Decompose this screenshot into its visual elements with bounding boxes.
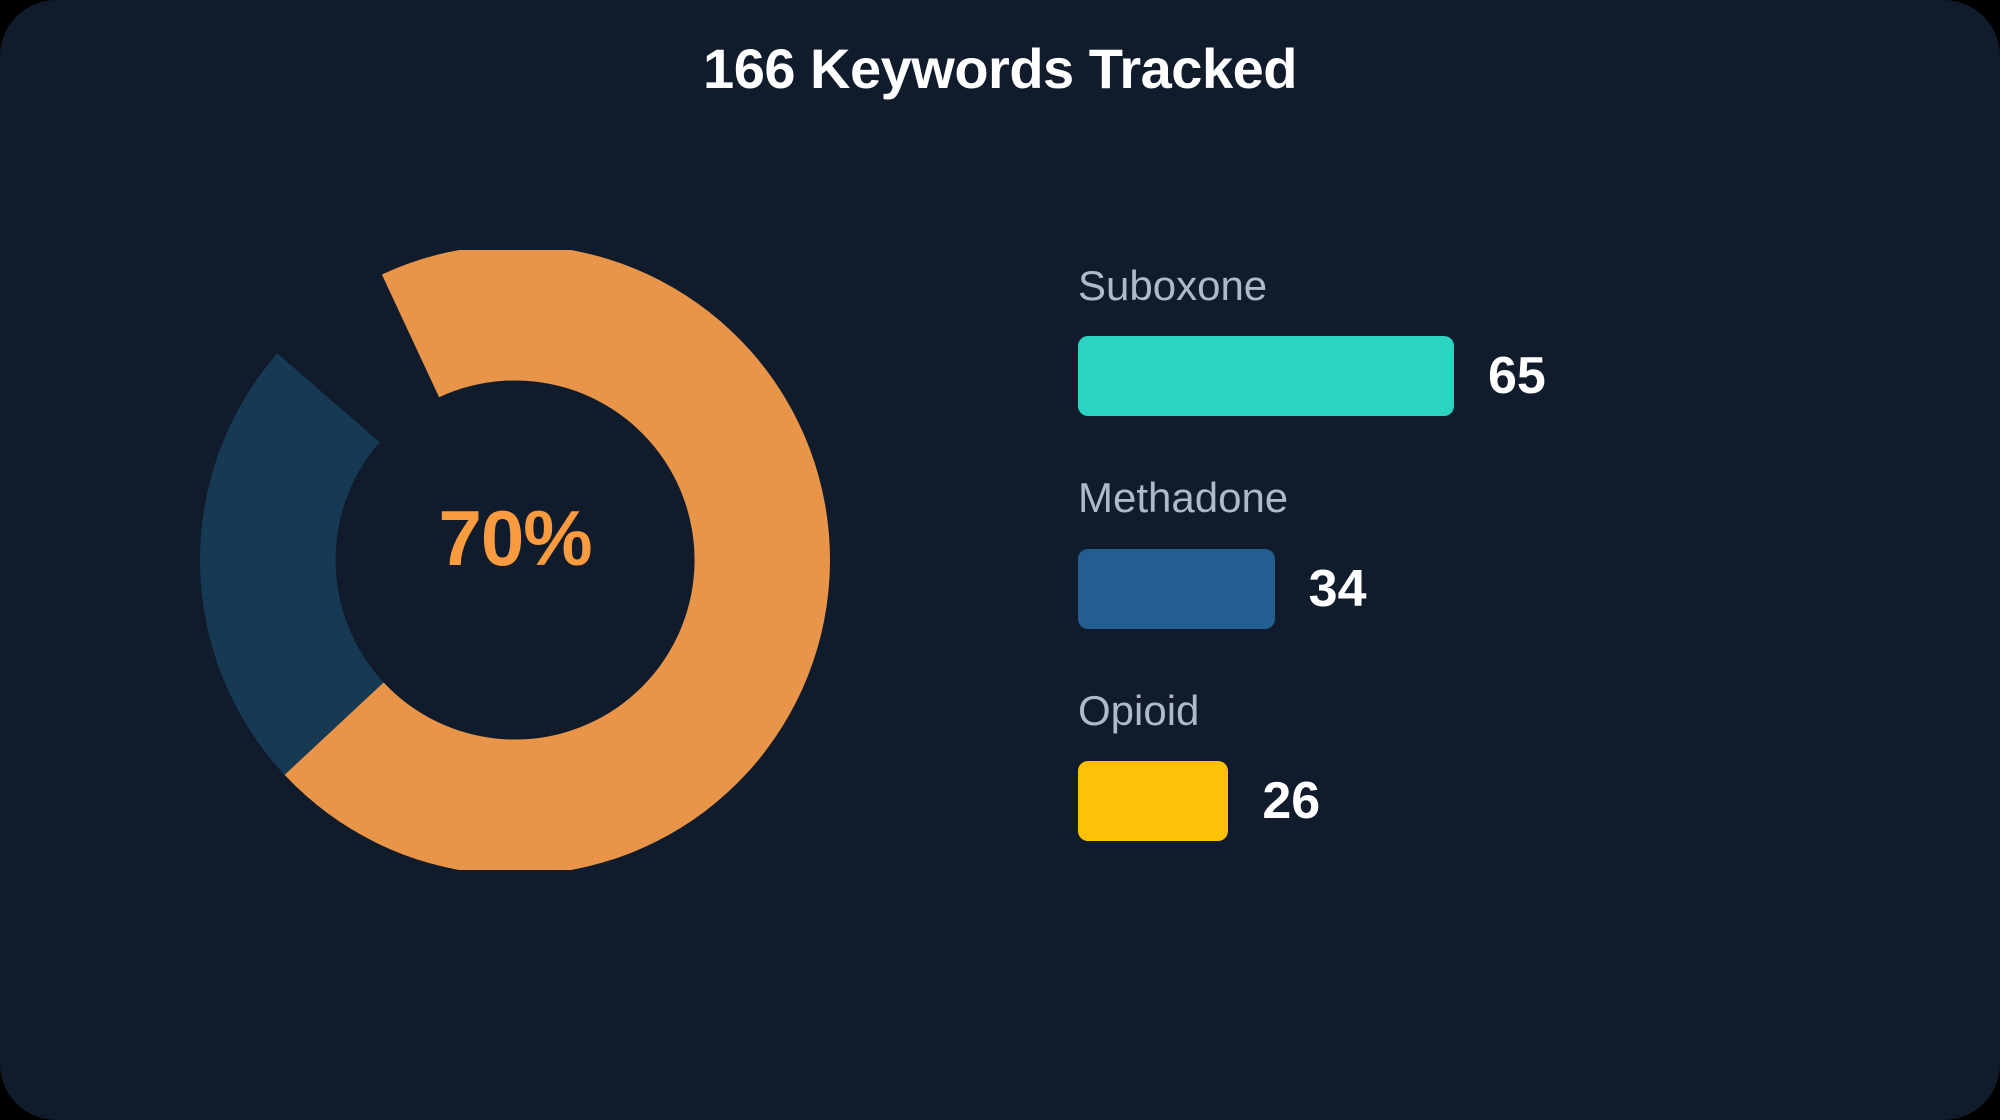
bar-fill-suboxone	[1078, 336, 1454, 416]
bar-label-opioid: Opioid	[1078, 687, 1898, 735]
bar-value-methadone: 34	[1309, 563, 1367, 615]
bar-label-methadone: Methadone	[1078, 474, 1898, 522]
bar-line: 34	[1078, 549, 1898, 629]
keyword-bar-list: Suboxone 65 Methadone 34 Opioid 26	[1078, 262, 1898, 841]
donut-progress-segment	[285, 250, 830, 870]
bar-value-opioid: 26	[1262, 775, 1320, 827]
bar-row: Methadone 34	[1078, 474, 1898, 628]
dashboard-card: 166 Keywords Tracked 70% Suboxone 65 Met…	[0, 0, 2000, 1120]
bar-fill-opioid	[1078, 761, 1228, 841]
bar-value-suboxone: 65	[1488, 350, 1546, 402]
bar-fill-methadone	[1078, 549, 1275, 629]
donut-chart: 70%	[190, 250, 840, 870]
donut-chart-svg	[190, 250, 840, 870]
bar-label-suboxone: Suboxone	[1078, 262, 1898, 310]
page-title: 166 Keywords Tracked	[0, 36, 2000, 101]
bar-row: Opioid 26	[1078, 687, 1898, 841]
bar-line: 65	[1078, 336, 1898, 416]
bar-row: Suboxone 65	[1078, 262, 1898, 416]
bar-line: 26	[1078, 761, 1898, 841]
